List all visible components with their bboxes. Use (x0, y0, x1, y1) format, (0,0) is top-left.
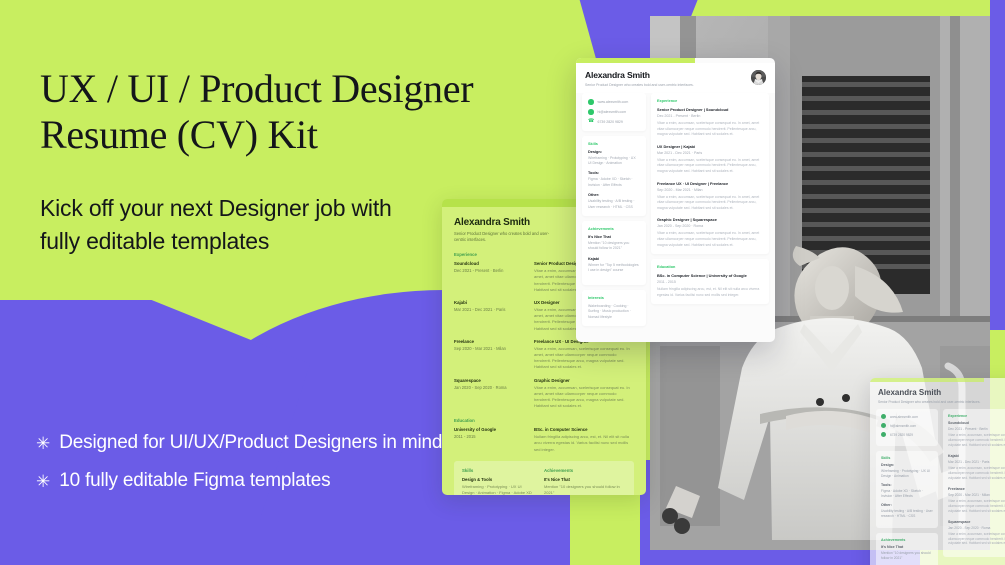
job-title: Freelance UX · UI Designer | Freelance (657, 181, 763, 186)
skills-group-label: Tools: (588, 171, 640, 175)
education-heading: Education (657, 265, 763, 269)
achievement-desc: Mention "10 designers you should follow … (544, 484, 626, 495)
resume-tagline: Senior Product Designer who creates bold… (878, 400, 1005, 404)
interests-value: Wakeboarding · Cooking · Surfing · Music… (588, 304, 640, 320)
globe-icon (588, 99, 594, 105)
job-body: Vitae a enim, accumsan, scelerisque cons… (657, 231, 763, 248)
education-heading: Education (454, 418, 634, 423)
job-body: Vitae a enim, accumsan, scelerisque cons… (534, 385, 634, 410)
skills-panel: Skills Design: Wireframing · Prototyping… (876, 451, 938, 528)
achievement-name: It's Nice That (544, 477, 626, 482)
skills-group-value: Wireframing · Prototyping · UX UI Design… (588, 156, 640, 167)
achievements-heading: Achievements (588, 227, 640, 231)
ghost-card-header: Alexandra Smith Senior Product Designer … (870, 382, 1005, 409)
job-company: Kajabi (948, 454, 1005, 458)
skills-group-value: Usability testing · A/B testing · User r… (588, 199, 640, 210)
phone-icon: ☎ (588, 119, 594, 125)
achievement-name: It's Nice That (588, 235, 640, 239)
contact-panel: www.alexsmith.com hi@alexsmith.com 6739 … (876, 409, 938, 446)
skills-group-value: Figma · Adobe XD · Sketch · Invision · A… (881, 489, 933, 499)
skills-group-value: Wireframing · Prototyping · UX UI Design… (462, 484, 534, 495)
skills-group-label: Design: (881, 463, 933, 467)
achievement-desc: Winner for "Top 5 methodologies I use in… (588, 263, 640, 274)
job-dates: Sep 2020 - Mar 2021 · Milan (657, 188, 763, 192)
contact-value: 6739 2820 9829 (598, 120, 623, 124)
experience-row: Freelance Sep 2020 - Mar 2021 · Milan Fr… (454, 339, 634, 371)
list-item: ✳ Designed for UI/UX/Product Designers i… (36, 432, 456, 454)
experience-item: Soundcloud Dec 2021 - Present · Berlin V… (948, 421, 1005, 448)
resume-tagline: Senior Product Designer who creates bold… (585, 83, 694, 87)
interests-heading: Interests (588, 296, 640, 300)
achievement-name: It's Nice That (881, 545, 933, 549)
bullet-label: Designed for UI/UX/Product Designers in … (59, 432, 442, 454)
skills-group-label: Other: (881, 503, 933, 507)
degree-title: BSc. in Computer Science | University of… (657, 273, 763, 278)
skills-group-value: Wireframing · Prototyping · UX UI Design… (881, 469, 933, 479)
job-dates: Jan 2020 - Sep 2020 · Roma (454, 385, 526, 390)
education-dates: 2011 - 2015 (657, 280, 763, 284)
job-dates: Dec 2021 - Present · Berlin (657, 114, 763, 118)
experience-heading: Experience (657, 99, 763, 103)
achievement-desc: Mention "10 designers you should follow … (881, 551, 933, 561)
skills-group-label: Design & Tools (462, 477, 534, 482)
page-subtitle: Kick off your next Designer job with ful… (40, 192, 420, 257)
experience-row: Squarespace Jan 2020 - Sep 2020 · Roma G… (454, 378, 634, 410)
experience-item: Freelance UX · UI Designer | Freelance S… (657, 181, 763, 212)
job-dates: Dec 2021 - Present · Berlin (948, 427, 1005, 431)
list-item: ✳ 10 fully editable Figma templates (36, 470, 456, 492)
achievements-heading: Achievements (544, 468, 626, 473)
phone-icon (881, 432, 886, 437)
resume-name: Alexandra Smith (585, 70, 694, 80)
experience-item: UX Designer | Kajabi Mar 2021 - Dec 2021… (657, 144, 763, 175)
experience-item: Freelance Sep 2020 - Mar 2021 · Milan Vi… (948, 487, 1005, 514)
skills-heading: Skills (588, 142, 640, 146)
degree-name: BSc. in Computer Science (534, 427, 634, 432)
skills-column: Skills Design & Tools Wireframing · Prot… (462, 468, 534, 495)
achievement-item: Kajabi Winner for "Top 5 methodologies I… (588, 257, 640, 274)
skills-panel: Skills Design: Wireframing · Prototyping… (582, 136, 646, 217)
experience-heading: Experience (948, 414, 1005, 418)
job-body: Vitae a enim, accumsan, scelerisque cons… (948, 466, 1005, 481)
achievements-panel: Achievements It's Nice That Mention "10 … (582, 221, 646, 285)
job-body: Vitae a enim, accumsan, scelerisque cons… (657, 195, 763, 212)
job-body: Vitae a enim, accumsan, scelerisque cons… (534, 346, 634, 371)
page-title: UX / UI / Product Designer Resume (CV) K… (40, 66, 510, 157)
education-panel: Education BSc. in Computer Science | Uni… (651, 259, 769, 304)
contact-value: www.alexsmith.com (890, 415, 918, 419)
contact-phone[interactable]: 6739 2820 9829 (881, 432, 933, 437)
contact-website[interactable]: www.alexsmith.com (588, 99, 640, 105)
skills-achievements-panel: Skills Design & Tools Wireframing · Prot… (454, 461, 634, 495)
job-dates: Jan 2020 - Sep 2020 · Roma (948, 526, 1005, 530)
skills-group-label: Other: (588, 193, 640, 197)
job-body: Vitae a enim, accumsan, scelerisque cons… (657, 158, 763, 175)
resume-card-ghost[interactable]: Alexandra Smith Senior Product Designer … (870, 378, 1005, 565)
achievements-column: Achievements It's Nice That Mention "10 … (544, 468, 626, 495)
job-body: Vitae a enim, accumsan, scelerisque cons… (657, 121, 763, 138)
achievement-name: Kajabi (588, 257, 640, 261)
skills-heading: Skills (462, 468, 534, 473)
purple-bottom-band (0, 520, 560, 565)
contact-email[interactable]: hi@alexsmith.com (881, 423, 933, 428)
skills-group-label: Design: (588, 150, 640, 154)
contact-email[interactable]: hi@alexsmith.com (588, 109, 640, 115)
skills-heading: Skills (881, 456, 933, 460)
mail-icon (588, 109, 594, 115)
contact-panel: www.alexsmith.com hi@alexsmith.com ☎ 673… (582, 93, 646, 131)
promo-canvas: Alexandra Smith Senior Product Designer … (0, 0, 1005, 565)
bullet-label: 10 fully editable Figma templates (59, 470, 330, 492)
job-dates: Mar 2021 - Dec 2021 · Paris (454, 307, 526, 312)
education-section: Education University of Google 2011 - 20… (454, 418, 634, 453)
job-dates: Sep 2020 - Mar 2021 · Milan (454, 346, 526, 351)
job-body: Vitae a enim, accumsan, scelerisque cons… (948, 532, 1005, 547)
contact-value: hi@alexsmith.com (890, 424, 916, 428)
job-title: Graphic Designer | Squarespace (657, 217, 763, 222)
company-name: Squarespace (454, 378, 526, 383)
skills-group-value: Figma · Adobe XD · Sketch · Invision · A… (588, 177, 640, 188)
feature-bullets: ✳ Designed for UI/UX/Product Designers i… (36, 432, 456, 508)
job-dates: Sep 2020 - Mar 2021 · Milan (948, 493, 1005, 497)
education-row: University of Google 2011 - 2015 BSc. in… (454, 427, 634, 453)
job-title: UX Designer | Kajabi (657, 144, 763, 149)
company-name: Kajabi (454, 300, 526, 305)
skills-group-value: Usability testing · A/B testing · User r… (881, 509, 933, 519)
asterisk-icon: ✳ (36, 473, 50, 490)
education-body: Nullam fringilla adipiscing arcu, est, e… (657, 287, 763, 298)
contact-value: 6739 2820 9829 (890, 433, 913, 437)
asterisk-icon: ✳ (36, 435, 50, 452)
job-dates: Mar 2021 - Dec 2021 · Paris (948, 460, 1005, 464)
resume-name: Alexandra Smith (878, 388, 1005, 397)
job-dates: Jan 2020 - Sep 2020 · Roma (657, 224, 763, 228)
company-name: Freelance (454, 339, 526, 344)
interests-panel: Interests Wakeboarding · Cooking · Surfi… (582, 290, 646, 326)
contact-value: hi@alexsmith.com (598, 110, 627, 114)
job-dates: Dec 2021 - Present · Berlin (454, 268, 526, 273)
achievement-item: It's Nice That Mention "10 designers you… (588, 235, 640, 252)
experience-item: Graphic Designer | Squarespace Jan 2020 … (657, 217, 763, 248)
job-body: Vitae a enim, accumsan, scelerisque cons… (948, 499, 1005, 514)
education-dates: 2011 - 2015 (454, 434, 526, 439)
job-dates: Mar 2021 - Dec 2021 · Paris (657, 151, 763, 155)
school-name: University of Google (454, 427, 526, 432)
portrait-avatar-illustration (751, 70, 766, 85)
experience-panel: Experience Soundcloud Dec 2021 - Present… (943, 409, 1005, 557)
contact-phone[interactable]: ☎ 6739 2820 9829 (588, 119, 640, 125)
experience-item: Senior Product Designer | Soundcloud Dec… (657, 107, 763, 138)
resume-header: Alexandra Smith Senior Product Designer … (576, 63, 775, 93)
resume-tagline: Senior Product Designer who creates bold… (454, 231, 550, 243)
contact-value: www.alexsmith.com (598, 100, 629, 104)
experience-item: Kajabi Mar 2021 - Dec 2021 · Paris Vitae… (948, 454, 1005, 481)
job-body: Vitae a enim, accumsan, scelerisque cons… (948, 433, 1005, 448)
company-name: Soundcloud (454, 261, 526, 266)
avatar (751, 70, 766, 85)
achievements-panel: Achievements It's Nice That Mention "10 … (876, 533, 938, 565)
resume-card-front[interactable]: Alexandra Smith Senior Product Designer … (576, 58, 775, 342)
education-body: Nullam fringilla adipiscing arcu, est, e… (534, 434, 634, 453)
globe-icon (881, 414, 886, 419)
job-title: Graphic Designer (534, 378, 634, 383)
mail-icon (881, 423, 886, 428)
experience-item: Squarespace Jan 2020 - Sep 2020 · Roma V… (948, 520, 1005, 547)
contact-website[interactable]: www.alexsmith.com (881, 414, 933, 419)
job-title: Senior Product Designer | Soundcloud (657, 107, 763, 112)
achievements-heading: Achievements (881, 538, 933, 542)
skills-group-label: Tools: (881, 483, 933, 487)
experience-panel: Experience Senior Product Designer | Sou… (651, 93, 769, 254)
job-company: Freelance (948, 487, 1005, 491)
job-company: Soundcloud (948, 421, 1005, 425)
achievement-desc: Mention "10 designers you should follow … (588, 241, 640, 252)
job-company: Squarespace (948, 520, 1005, 524)
